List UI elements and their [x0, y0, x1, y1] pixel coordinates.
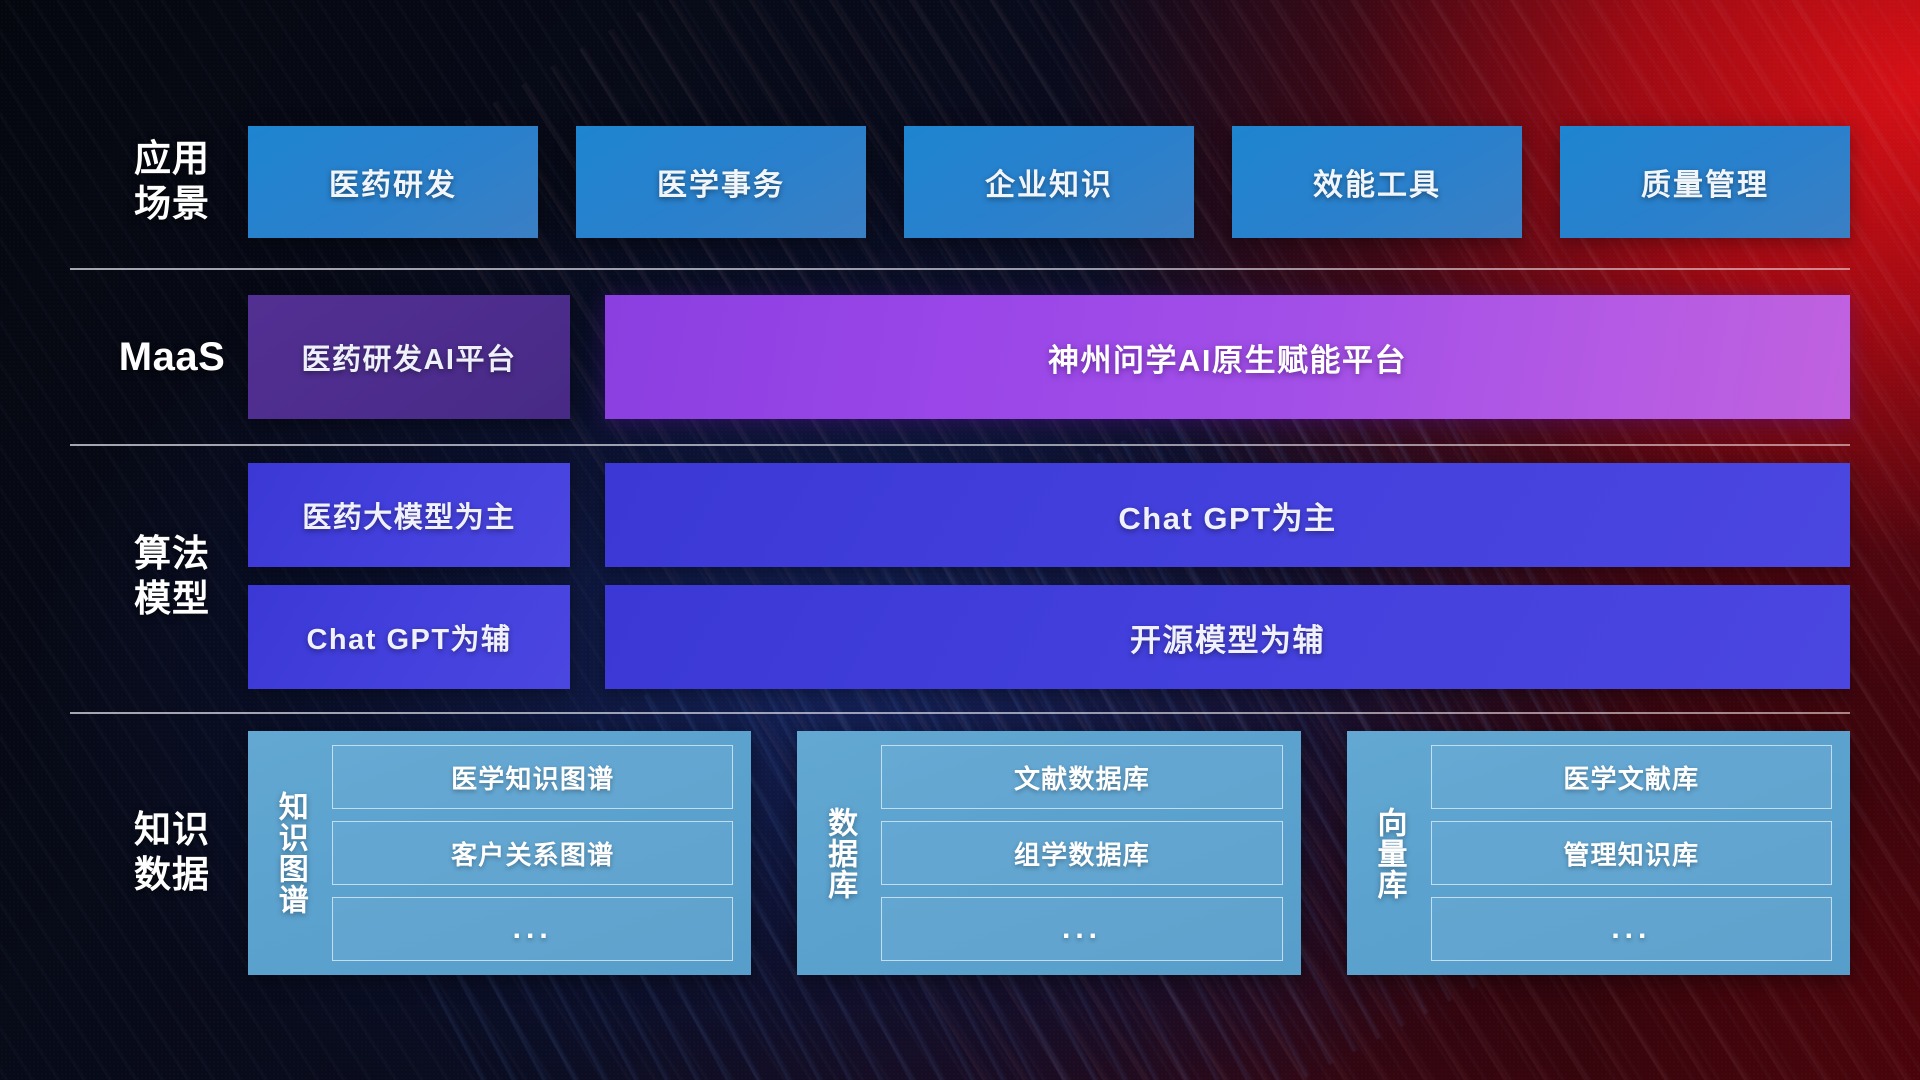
knowledge-item-list: 文献数据库 组学数据库 ...: [881, 745, 1282, 961]
knowledge-item-more-ellipsis[interactable]: ...: [1431, 897, 1832, 961]
app-card-efficiency-tools[interactable]: 效能工具: [1232, 126, 1522, 238]
knowledge-group-track: 知识图谱 医学知识图谱 客户关系图谱 ... 数据库 文献数据库 组学数据库 .…: [248, 731, 1850, 975]
architecture-diagram: 应用 场景 医药研发 医学事务 企业知识 效能工具 质量管理 MaaS 医药研发…: [0, 0, 1920, 1080]
knowledge-item-more-ellipsis[interactable]: ...: [332, 897, 733, 961]
knowledge-group-database: 数据库 文献数据库 组学数据库 ...: [797, 731, 1300, 975]
knowledge-group-label-knowledge-graph: 知识图谱: [258, 745, 322, 961]
knowledge-group-knowledge-graph: 知识图谱 医学知识图谱 客户关系图谱 ...: [248, 731, 751, 975]
knowledge-item-list: 医学文献库 管理知识库 ...: [1431, 745, 1832, 961]
knowledge-item-customer-relation-graph[interactable]: 客户关系图谱: [332, 821, 733, 885]
divider-algo-knowledge: [70, 712, 1850, 714]
row-label-algorithm-model: 算法 模型: [72, 531, 272, 621]
row-label-knowledge-data: 知识 数据: [72, 807, 272, 897]
row-label-application-scenarios: 应用 场景: [72, 136, 272, 226]
app-card-drug-rd[interactable]: 医药研发: [248, 126, 538, 238]
maas-card-shenzhou-wenxue-platform[interactable]: 神州问学AI原生赋能平台: [605, 295, 1850, 419]
knowledge-item-medical-knowledge-graph[interactable]: 医学知识图谱: [332, 745, 733, 809]
knowledge-group-label-database: 数据库: [807, 745, 871, 961]
algorithm-left-column: 医药大模型为主 Chat GPT为辅: [248, 463, 570, 689]
row-maas: MaaS 医药研发AI平台 神州问学AI原生赋能平台: [0, 295, 1920, 419]
knowledge-group-vector-store: 向量库 医学文献库 管理知识库 ...: [1347, 731, 1850, 975]
row-knowledge-data: 知识 数据 知识图谱 医学知识图谱 客户关系图谱 ... 数据库 文献数据库 组…: [0, 731, 1920, 975]
knowledge-item-management-knowledge-store[interactable]: 管理知识库: [1431, 821, 1832, 885]
knowledge-item-literature-database[interactable]: 文献数据库: [881, 745, 1282, 809]
algorithm-right-column: Chat GPT为主 开源模型为辅: [605, 463, 1850, 689]
knowledge-item-more-ellipsis[interactable]: ...: [881, 897, 1282, 961]
app-card-medical-affairs[interactable]: 医学事务: [576, 126, 866, 238]
app-card-enterprise-knowledge[interactable]: 企业知识: [904, 126, 1194, 238]
slide-canvas: 应用 场景 医药研发 医学事务 企业知识 效能工具 质量管理 MaaS 医药研发…: [0, 0, 1920, 1080]
knowledge-item-list: 医学知识图谱 客户关系图谱 ...: [332, 745, 733, 961]
app-card-quality-management[interactable]: 质量管理: [1560, 126, 1850, 238]
row-application-scenarios: 应用 场景 医药研发 医学事务 企业知识 效能工具 质量管理: [0, 126, 1920, 238]
knowledge-item-medical-literature-store[interactable]: 医学文献库: [1431, 745, 1832, 809]
maas-card-drug-rd-ai-platform[interactable]: 医药研发AI平台: [248, 295, 570, 419]
row-label-maas: MaaS: [72, 333, 272, 382]
divider-maas-algo: [70, 444, 1850, 446]
algo-card-opensource-secondary[interactable]: 开源模型为辅: [605, 585, 1850, 689]
knowledge-group-label-vector-store: 向量库: [1357, 745, 1421, 961]
algo-card-chatgpt-secondary[interactable]: Chat GPT为辅: [248, 585, 570, 689]
row-algorithm-model: 算法 模型 医药大模型为主 Chat GPT为辅 Chat GPT为主 开源模型…: [0, 463, 1920, 689]
divider-apps-maas: [70, 268, 1850, 270]
algo-card-pharma-llm-primary[interactable]: 医药大模型为主: [248, 463, 570, 567]
knowledge-item-omics-database[interactable]: 组学数据库: [881, 821, 1282, 885]
algo-card-chatgpt-primary[interactable]: Chat GPT为主: [605, 463, 1850, 567]
application-card-track: 医药研发 医学事务 企业知识 效能工具 质量管理: [248, 126, 1850, 238]
